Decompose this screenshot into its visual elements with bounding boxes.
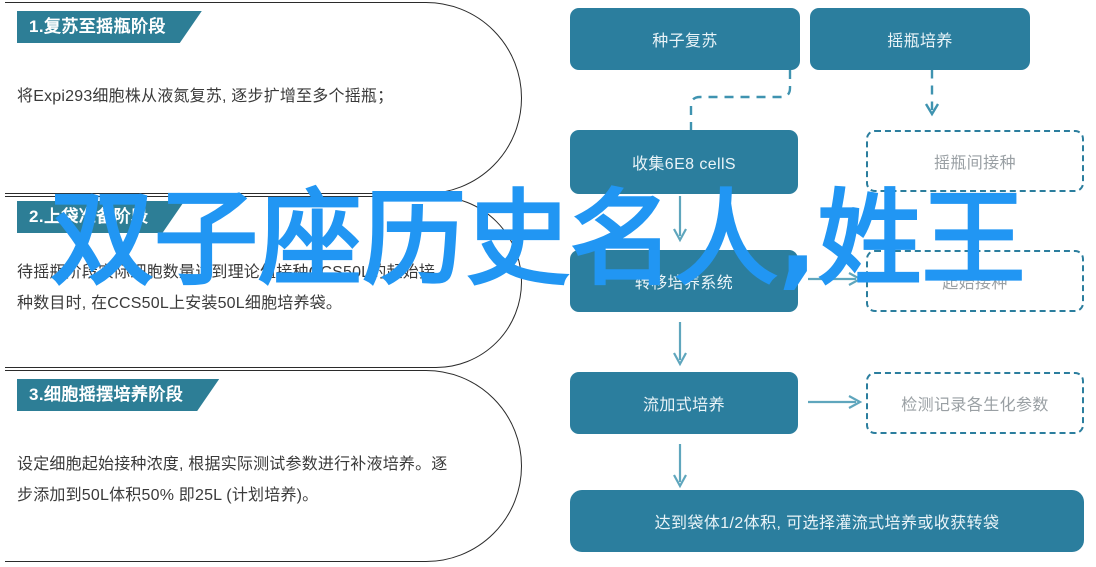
stage-1-heading: 1.复苏至摇瓶阶段 xyxy=(17,11,202,43)
stage-2-body: 待摇瓶阶段实际细胞数量达到理论值接种CCS50L的起始接种数目时, 在CCS50… xyxy=(17,257,451,319)
flow-node-shake-culture-label: 摇瓶培养 xyxy=(887,27,953,51)
flow-node-seed-recovery[interactable]: 种子复苏 xyxy=(570,8,800,70)
flow-node-start-inoculate[interactable]: 起始接种 xyxy=(866,250,1084,312)
arrowhead-fedbatch-to-half xyxy=(674,475,686,486)
flow-node-shake-inoculate[interactable]: 摇瓶间接种 xyxy=(866,130,1084,192)
flow-node-record-params-label: 检测记录各生化参数 xyxy=(901,391,1049,415)
flow-node-collect-cells-label: 收集6E8 cellS xyxy=(632,150,736,174)
flow-node-shake-culture[interactable]: 摇瓶培养 xyxy=(810,8,1030,70)
arrowhead-shake-to-inoculate xyxy=(926,104,938,114)
arrowhead-collect-to-transfer xyxy=(674,229,686,240)
connector-shake-to-collect xyxy=(691,70,790,132)
flow-node-start-inoculate-label: 起始接种 xyxy=(942,269,1008,293)
flow-node-half-volume-label: 达到袋体1/2体积, 可选择灌流式培养或收获转袋 xyxy=(655,509,1000,533)
flow-node-transfer-system[interactable]: 转移培养系统 xyxy=(570,250,798,312)
flow-node-record-params[interactable]: 检测记录各生化参数 xyxy=(866,372,1084,434)
flow-node-collect-cells[interactable]: 收集6E8 cellS xyxy=(570,130,798,194)
flow-node-half-volume[interactable]: 达到袋体1/2体积, 可选择灌流式培养或收获转袋 xyxy=(570,490,1084,552)
arrowhead-fedbatch-to-record xyxy=(849,396,860,408)
infographic-canvas: 1.复苏至摇瓶阶段 将Expi293细胞株从液氮复苏, 逐步扩增至多个摇瓶； 2… xyxy=(0,0,1096,567)
flow-node-fedbatch-label: 流加式培养 xyxy=(643,391,725,415)
flow-node-fedbatch[interactable]: 流加式培养 xyxy=(570,372,798,434)
stage-panel-2: 2.上袋准备阶段 待摇瓶阶段实际细胞数量达到理论值接种CCS50L的起始接种数目… xyxy=(2,196,522,368)
stage-2-heading: 2.上袋准备阶段 xyxy=(17,201,184,233)
stage-panel-1: 1.复苏至摇瓶阶段 将Expi293细胞株从液氮复苏, 逐步扩增至多个摇瓶； xyxy=(2,2,522,194)
stage-3-heading: 3.细胞摇摆培养阶段 xyxy=(17,379,219,411)
arrowhead-transfer-to-fedbatch xyxy=(674,353,686,364)
stage-3-body: 设定细胞起始接种浓度, 根据实际测试参数进行补液培养。逐步添加到50L体积50%… xyxy=(17,449,451,511)
flow-node-seed-recovery-label: 种子复苏 xyxy=(652,27,718,51)
flow-node-transfer-system-label: 转移培养系统 xyxy=(635,269,733,293)
stage-1-body: 将Expi293细胞株从液氮复苏, 逐步扩增至多个摇瓶； xyxy=(17,81,451,112)
arrowhead-transfer-to-start xyxy=(849,273,860,285)
stage-panel-3: 3.细胞摇摆培养阶段 设定细胞起始接种浓度, 根据实际测试参数进行补液培养。逐步… xyxy=(2,370,522,562)
flow-node-shake-inoculate-label: 摇瓶间接种 xyxy=(934,149,1016,173)
